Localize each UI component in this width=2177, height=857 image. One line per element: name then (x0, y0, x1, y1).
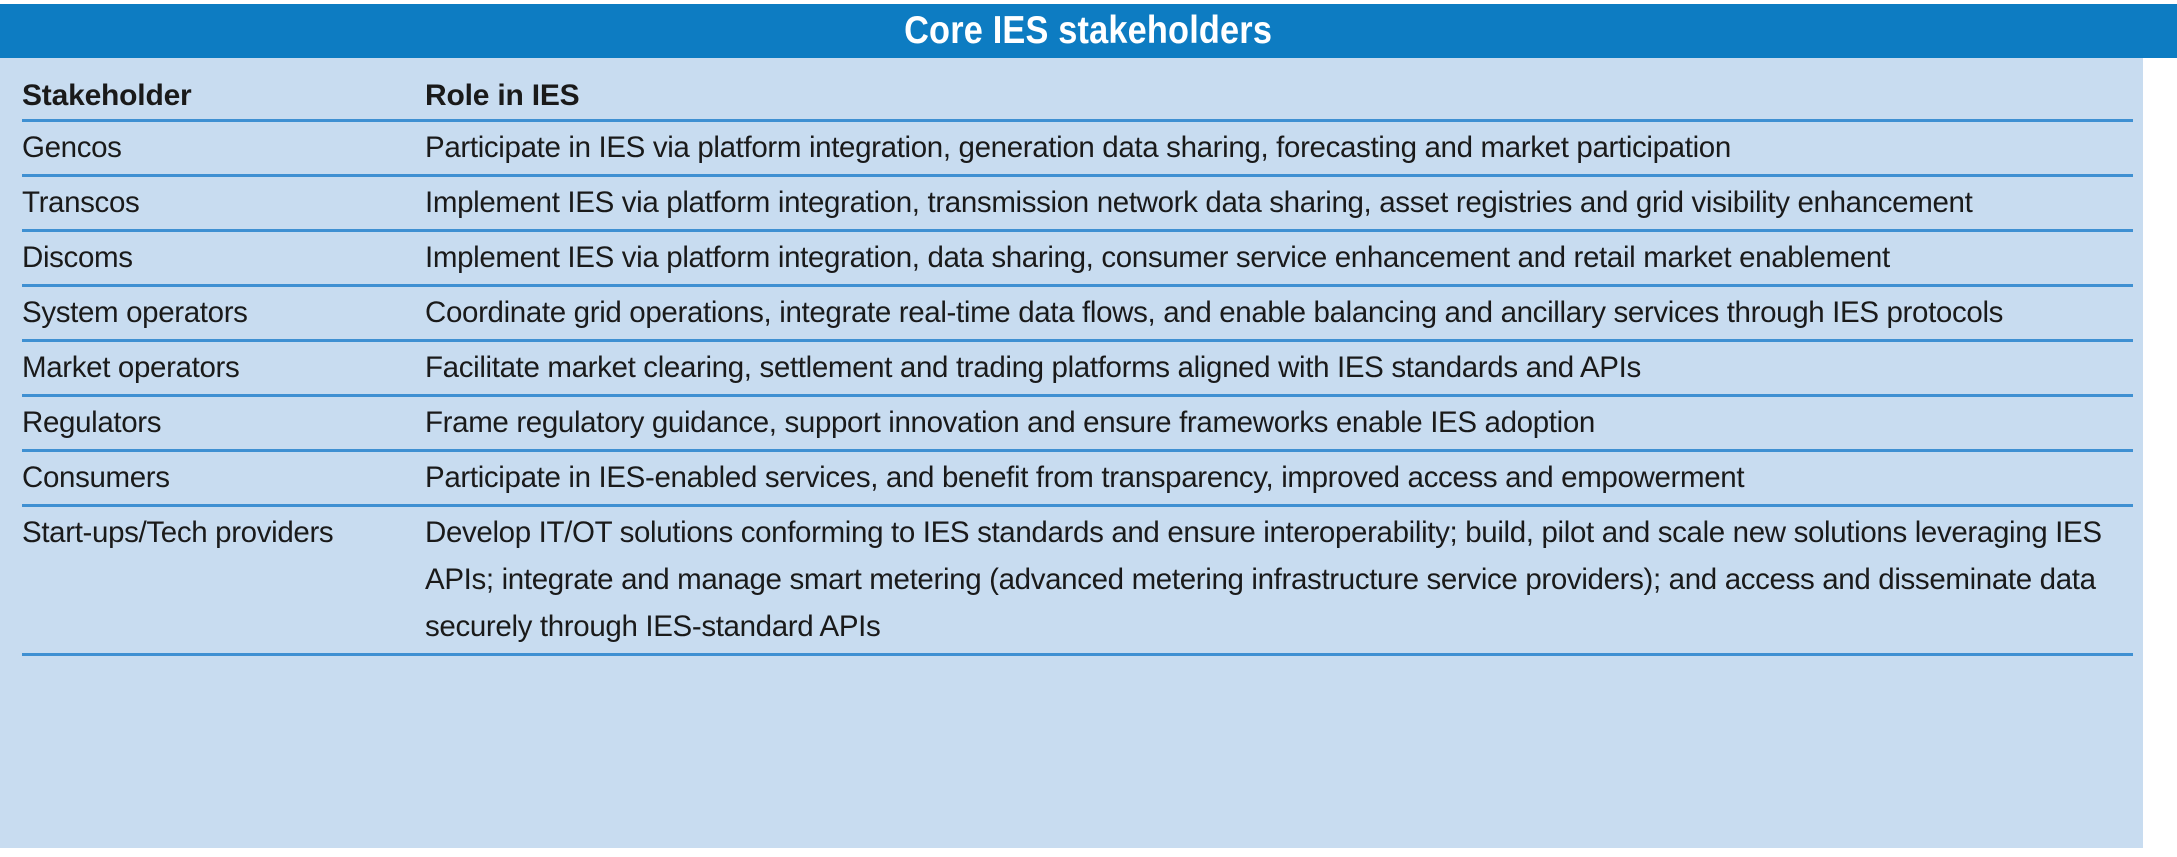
cell-role: Participate in IES via platform integrat… (425, 124, 2133, 171)
figure-title-bar: Core IES stakeholders (0, 4, 2177, 58)
cell-role: Participate in IES-enabled services, and… (425, 454, 2133, 501)
cell-role: Frame regulatory guidance, support innov… (425, 399, 2133, 446)
cell-stakeholder: Consumers (22, 454, 425, 501)
table-row: Start-ups/Tech providers Develop IT/OT s… (22, 507, 2133, 653)
stakeholders-table: Stakeholder Role in IES Gencos Participa… (22, 74, 2133, 656)
cell-stakeholder: Gencos (22, 124, 425, 171)
table-header-row: Stakeholder Role in IES (22, 74, 2133, 119)
cell-role: Implement IES via platform integration, … (425, 234, 2133, 281)
cell-stakeholder: Market operators (22, 344, 425, 391)
table-row: Market operators Facilitate market clear… (22, 342, 2133, 394)
table-figure: Core IES stakeholders Stakeholder Role i… (0, 0, 2177, 857)
table-row: Transcos Implement IES via platform inte… (22, 177, 2133, 229)
cell-role: Facilitate market clearing, settlement a… (425, 344, 2133, 391)
cell-stakeholder: Discoms (22, 234, 425, 281)
page-title: Core IES stakeholders (904, 9, 1272, 53)
cell-role: Implement IES via platform integration, … (425, 179, 2133, 226)
table-row: System operators Coordinate grid operati… (22, 287, 2133, 339)
table-bottom-rule (22, 653, 2133, 656)
cell-role: Coordinate grid operations, integrate re… (425, 289, 2133, 336)
column-header-role: Role in IES (425, 74, 2133, 118)
cell-stakeholder: System operators (22, 289, 425, 336)
cell-stakeholder: Transcos (22, 179, 425, 226)
cell-role: Develop IT/OT solutions conforming to IE… (425, 509, 2133, 650)
cell-stakeholder: Start-ups/Tech providers (22, 509, 425, 556)
cell-stakeholder: Regulators (22, 399, 425, 446)
table-row: Regulators Frame regulatory guidance, su… (22, 397, 2133, 449)
table-row: Consumers Participate in IES-enabled ser… (22, 452, 2133, 504)
table-row: Gencos Participate in IES via platform i… (22, 122, 2133, 174)
table-row: Discoms Implement IES via platform integ… (22, 232, 2133, 284)
column-header-stakeholder: Stakeholder (22, 74, 425, 118)
